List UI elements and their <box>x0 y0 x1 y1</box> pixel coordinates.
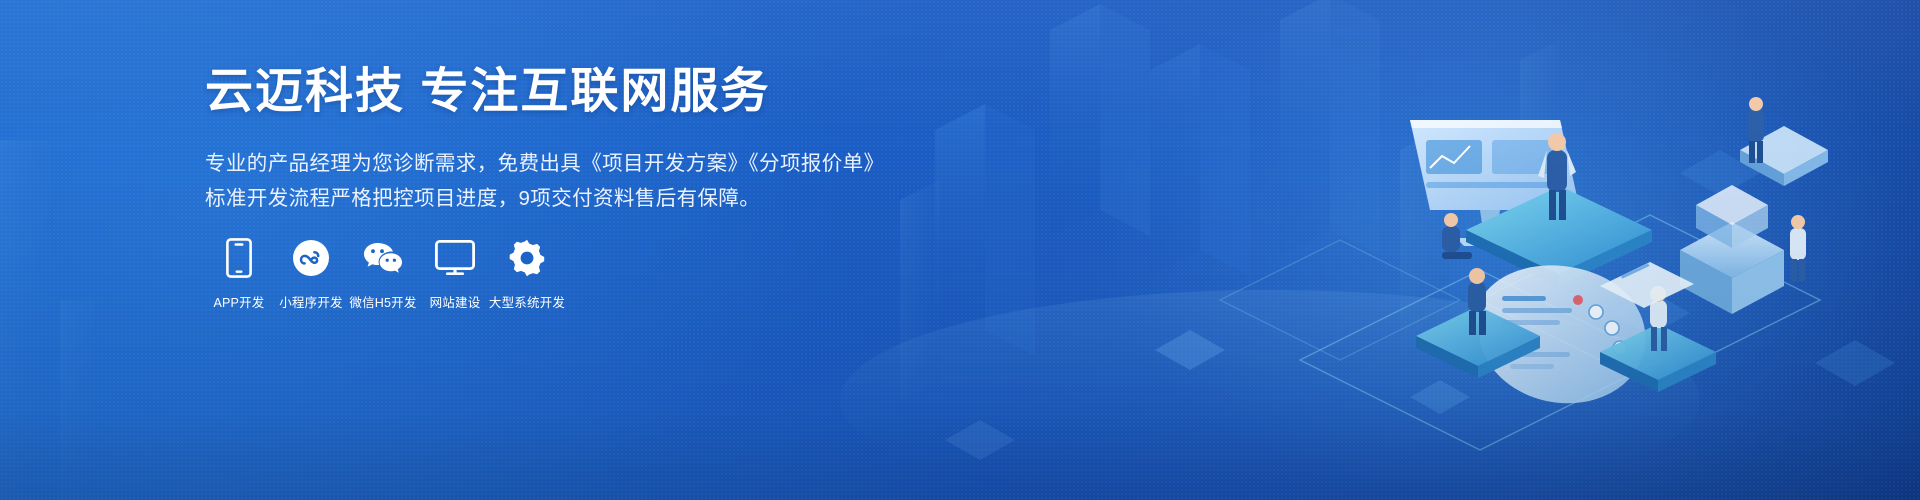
service-item-app[interactable]: APP开发 <box>203 236 275 311</box>
page-title: 云迈科技 专注互联网服务 <box>205 62 965 122</box>
service-label: APP开发 <box>213 292 264 311</box>
service-label: 小程序开发 <box>279 292 343 311</box>
wechat-icon <box>362 236 404 280</box>
smartphone-icon <box>226 236 252 280</box>
illustration-artwork <box>1180 0 1920 500</box>
banner-subtitle: 专业的产品经理为您诊断需求，免费出具《项目开发方案》《分项报价单》 标准开发流程… <box>205 146 965 217</box>
gear-icon <box>508 236 546 280</box>
subtitle-line-1: 专业的产品经理为您诊断需求，免费出具《项目开发方案》《分项报价单》 <box>205 146 965 181</box>
banner-content: 云迈科技 专注互联网服务 专业的产品经理为您诊断需求，免费出具《项目开发方案》《… <box>205 62 965 217</box>
hero-illustration <box>1180 0 1920 500</box>
illus-cubes <box>1680 185 1784 314</box>
service-item-mini-program[interactable]: 小程序开发 <box>275 236 347 311</box>
hero-banner: 云迈科技 专注互联网服务 专业的产品经理为您诊断需求，免费出具《项目开发方案》《… <box>0 0 1920 500</box>
illus-person-right-mid <box>1790 215 1806 281</box>
subtitle-line-2: 标准开发流程严格把控项目进度，9项交付资料售后有保障。 <box>205 181 965 216</box>
service-label: 大型系统开发 <box>489 292 565 311</box>
monitor-icon <box>435 236 475 280</box>
service-list: APP开发 小程序开发 <box>203 236 563 311</box>
service-item-website[interactable]: 网站建设 <box>419 236 491 311</box>
service-label: 网站建设 <box>430 292 481 311</box>
service-label: 微信H5开发 <box>349 292 416 311</box>
service-item-wechat-h5[interactable]: 微信H5开发 <box>347 236 419 311</box>
service-item-large-system[interactable]: 大型系统开发 <box>491 236 563 311</box>
mini-program-icon <box>292 236 330 280</box>
